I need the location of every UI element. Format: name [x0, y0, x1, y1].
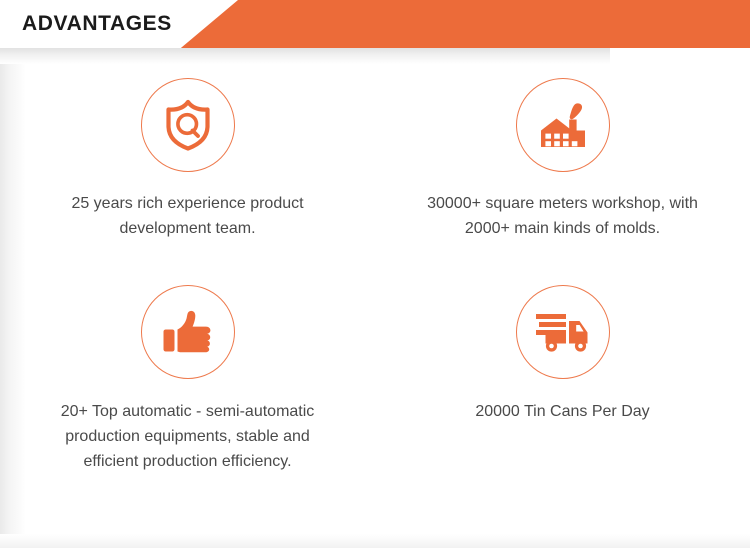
page-title: ADVANTAGES: [22, 11, 172, 37]
icon-circle: [516, 78, 610, 172]
shield-quality-icon: [163, 99, 213, 151]
advantage-card-equipment: 20+ Top automatic - semi-automatic produ…: [0, 285, 375, 474]
advantage-text: 30000+ square meters workshop, with 2000…: [413, 191, 713, 241]
thumbs-up-icon: [161, 307, 215, 357]
advantages-grid: 25 years rich experience product develop…: [0, 78, 750, 474]
advantages-row: 20+ Top automatic - semi-automatic produ…: [0, 285, 750, 474]
advantages-row: 25 years rich experience product develop…: [0, 78, 750, 241]
advantage-card-quality: 25 years rich experience product develop…: [0, 78, 375, 241]
advantage-card-capacity: 20000 Tin Cans Per Day: [375, 285, 750, 474]
page-header: ADVANTAGES: [0, 0, 750, 48]
header-shadow: [0, 48, 610, 64]
advantages-page: ADVANTAGES 25 years rich experience prod…: [0, 0, 750, 548]
icon-circle: [516, 285, 610, 379]
advantage-text: 20+ Top automatic - semi-automatic produ…: [38, 399, 338, 474]
bottom-edge-shadow: [0, 534, 750, 548]
advantage-text: 20000 Tin Cans Per Day: [475, 399, 649, 424]
advantage-text: 25 years rich experience product develop…: [38, 191, 338, 241]
factory-icon: [536, 99, 590, 151]
icon-circle: [141, 285, 235, 379]
delivery-truck-icon: [535, 310, 591, 354]
advantage-card-workshop: 30000+ square meters workshop, with 2000…: [375, 78, 750, 241]
icon-circle: [141, 78, 235, 172]
